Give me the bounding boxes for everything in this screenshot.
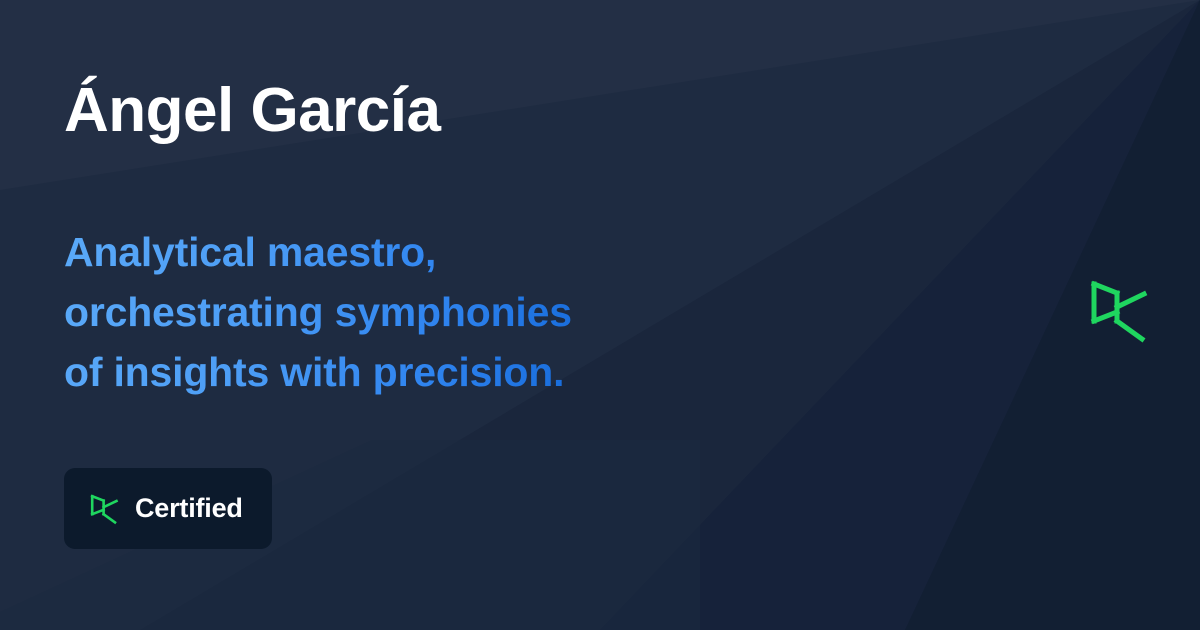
brand-watermark — [1090, 278, 1148, 344]
certified-badge-label: Certified — [135, 495, 243, 522]
tagline-line-1: Analytical maestro, — [64, 222, 704, 282]
tagline-line-3: of insights with precision. — [64, 342, 704, 402]
certified-badge[interactable]: Certified — [64, 468, 272, 549]
background-right-wedge — [905, 0, 1200, 630]
page-title: Ángel García — [64, 78, 440, 145]
tagline: Analytical maestro, orchestrating sympho… — [64, 222, 704, 402]
brand-logo-icon — [1090, 278, 1148, 344]
brand-logo-icon — [90, 493, 120, 525]
tagline-line-2: orchestrating symphonies — [64, 282, 704, 342]
card-content: Ángel García Analytical maestro, orchest… — [64, 0, 764, 630]
profile-share-card: Ángel García Analytical maestro, orchest… — [0, 0, 1200, 630]
